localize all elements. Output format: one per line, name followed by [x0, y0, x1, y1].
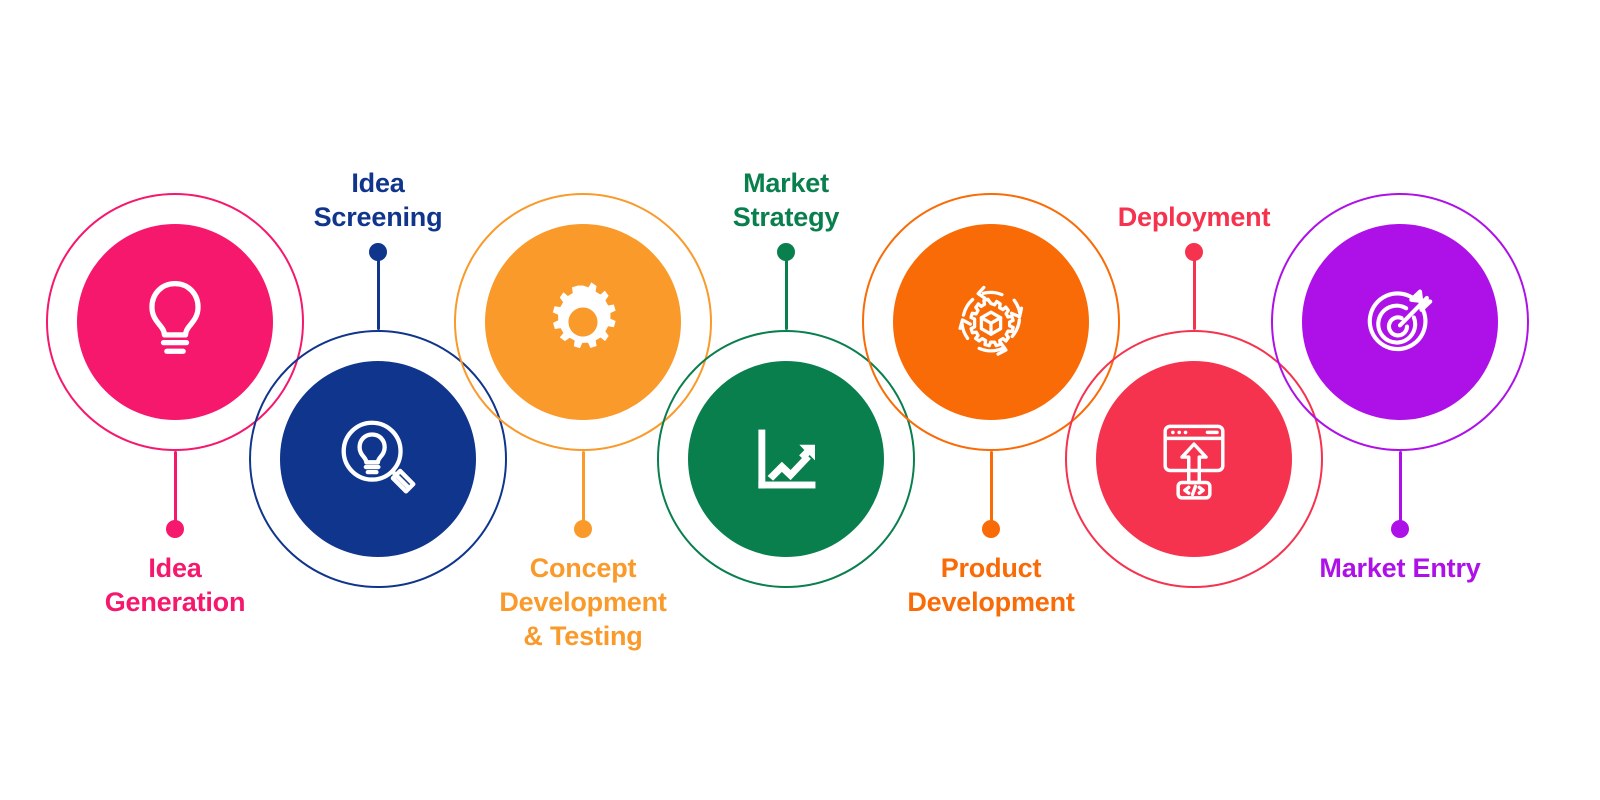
- step-icon-circle-5[interactable]: [893, 224, 1089, 420]
- step-label-2: Idea Screening: [218, 166, 538, 234]
- step-connector-dot: [982, 520, 1000, 538]
- lightbulb-icon: [127, 274, 223, 370]
- step-connector-line: [377, 252, 380, 330]
- step-connector-line: [785, 252, 788, 330]
- magnifier-lightbulb-icon: [329, 410, 427, 508]
- step-connector-line: [174, 451, 177, 529]
- step-label-6: Deployment: [1034, 200, 1354, 234]
- step-connector-dot: [369, 243, 387, 261]
- step-label-3: Concept Development & Testing: [423, 551, 743, 653]
- step-icon-circle-2[interactable]: [280, 361, 476, 557]
- step-connector-dot: [166, 520, 184, 538]
- gear-icon: [539, 278, 627, 366]
- step-icon-circle-6[interactable]: [1096, 361, 1292, 557]
- step-connector-line: [990, 451, 993, 529]
- step-label-1: Idea Generation: [15, 551, 335, 619]
- step-connector-dot: [777, 243, 795, 261]
- step-label-7: Market Entry: [1240, 551, 1560, 585]
- target-arrow-icon: [1352, 274, 1448, 370]
- gear-cube-cycle-icon: [941, 272, 1041, 372]
- step-connector-dot: [1185, 243, 1203, 261]
- step-icon-circle-4[interactable]: [688, 361, 884, 557]
- browser-deploy-code-icon: [1146, 411, 1242, 507]
- growth-chart-icon: [740, 413, 832, 505]
- step-connector-line: [1193, 252, 1196, 330]
- step-connector-line: [1399, 451, 1402, 529]
- step-connector-dot: [574, 520, 592, 538]
- step-label-5: Product Development: [831, 551, 1151, 619]
- step-connector-dot: [1391, 520, 1409, 538]
- infographic-canvas: Idea Generation Idea Screening Concept D…: [0, 0, 1600, 800]
- step-icon-circle-3[interactable]: [485, 224, 681, 420]
- step-icon-circle-7[interactable]: [1302, 224, 1498, 420]
- step-label-4: Market Strategy: [626, 166, 946, 234]
- step-icon-circle-1[interactable]: [77, 224, 273, 420]
- step-connector-line: [582, 451, 585, 529]
